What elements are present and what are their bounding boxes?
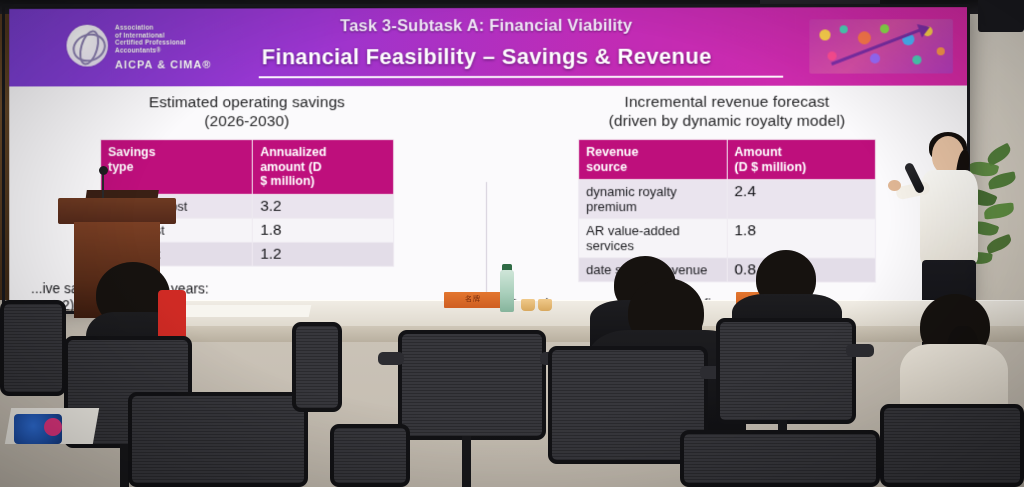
- revenue-col-header: Revenue source: [579, 139, 727, 179]
- name-placard: 名牌: [444, 292, 502, 308]
- slide-banner: Association of International Certified P…: [9, 7, 969, 86]
- revenue-table: Revenue source Amount (D $ million) dyna…: [578, 139, 876, 283]
- amount-col-header-l3: $ million): [260, 174, 315, 188]
- drinking-cup: [521, 299, 535, 311]
- savings-col-header-l2: type: [108, 159, 133, 173]
- title-underline: [259, 76, 783, 79]
- screenshot-root: Association of International Certified P…: [0, 0, 1024, 487]
- lectern-top: [58, 198, 176, 224]
- savings-heading-line1: Estimated operating savings: [25, 94, 470, 113]
- row-label: AR value-added services: [579, 219, 727, 258]
- revenue-col-header-l1: Revenue: [586, 145, 638, 159]
- table-header-row: Revenue source Amount (D $ million): [579, 139, 876, 179]
- lectern-microphone: [102, 172, 104, 198]
- amount-col-header-l1: Annualized: [260, 145, 326, 159]
- revenue-panel: Incremental revenue forecast (driven by …: [486, 94, 969, 332]
- amount-col-header-l2: amount (D: [260, 159, 321, 173]
- revenue-amount-header-l1: Amount: [734, 145, 782, 159]
- savings-heading-line2: (2026-2030): [25, 113, 470, 132]
- revenue-heading-line2: (driven by dynamic royalty model): [502, 112, 953, 131]
- presenter-hand: [888, 180, 901, 191]
- revenue-col-header-l2: source: [586, 160, 627, 174]
- row-value: 1.8: [727, 219, 876, 258]
- revenue-heading-line1: Incremental revenue forecast: [502, 94, 953, 113]
- pink-desk-object: [44, 418, 62, 436]
- row-value: 1.2: [253, 242, 394, 266]
- savings-col-header: Savings type: [101, 140, 253, 194]
- name-placard-label: 名牌: [444, 292, 502, 308]
- revenue-heading: Incremental revenue forecast (driven by …: [502, 94, 953, 131]
- amount-col-header: Annualized amount (D $ million): [253, 140, 394, 194]
- savings-col-header-l1: Savings: [108, 145, 155, 159]
- savings-heading: Estimated operating savings (2026-2030): [25, 94, 470, 131]
- row-value: 2.4: [727, 180, 876, 219]
- business-growth-illustration: [809, 19, 953, 74]
- row-label: dynamic royalty premium: [579, 180, 727, 219]
- drinking-cup: [538, 299, 552, 311]
- table-row: AR value-added services 1.8: [579, 219, 876, 258]
- ceiling-speaker: [978, 0, 1024, 32]
- row-value: 3.2: [253, 194, 394, 218]
- table-header-row: Savings type Annualized amount (D $ mill…: [101, 140, 394, 194]
- judges-table-front: [120, 326, 1024, 342]
- table-row: dynamic royalty premium 2.4: [579, 180, 876, 219]
- row-value: 1.8: [253, 218, 394, 242]
- revenue-amount-header-l2: (D $ million): [734, 160, 806, 174]
- water-bottle: [500, 270, 514, 312]
- revenue-amount-col-header: Amount (D $ million): [727, 139, 876, 179]
